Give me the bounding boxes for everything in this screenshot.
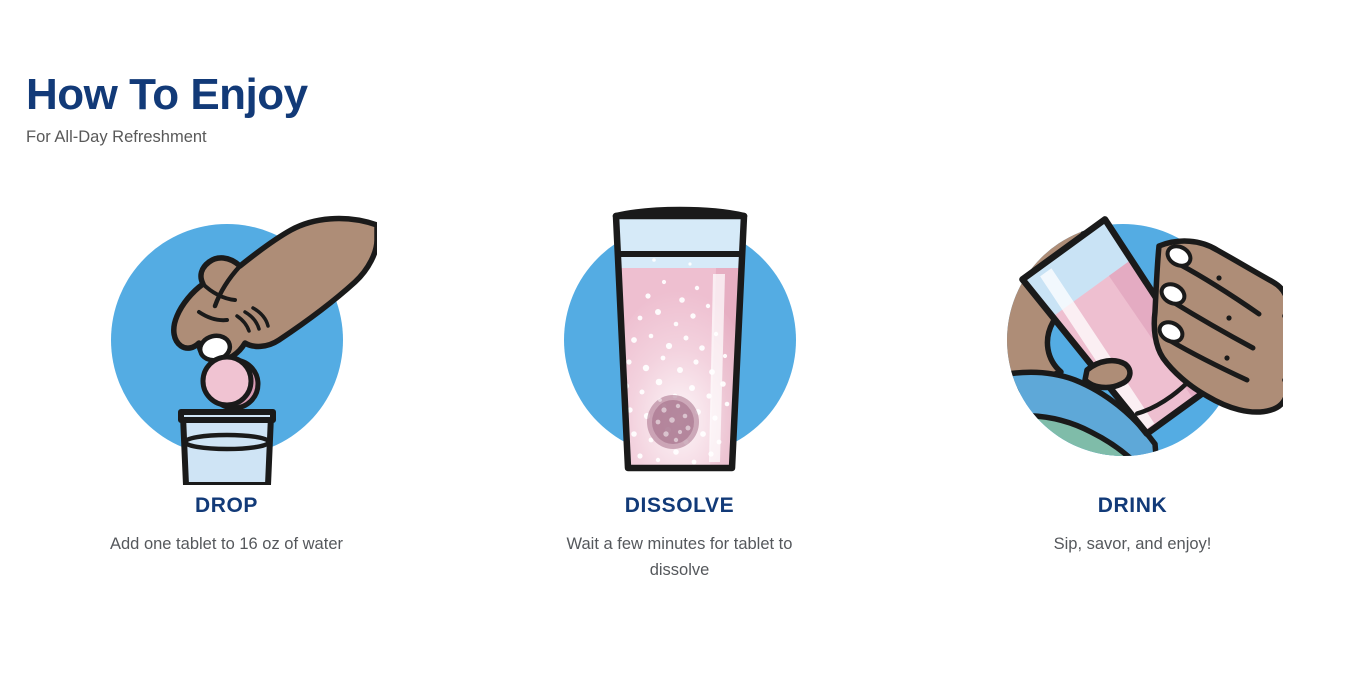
dissolve-illustration [530, 200, 830, 485]
drink-illustration [983, 200, 1283, 485]
step-description: Wait a few minutes for tablet to dissolv… [552, 532, 808, 583]
page-title: How To Enjoy [26, 72, 626, 118]
tall-glass [608, 210, 752, 485]
step-title: DISSOLVE [625, 485, 734, 516]
drop-illustration [77, 200, 377, 485]
water-glass [181, 412, 273, 485]
thumb [1085, 361, 1130, 388]
step-title: DROP [195, 485, 258, 516]
step-description: Add one tablet to 16 oz of water [110, 532, 343, 558]
page-subtitle: For All-Day Refreshment [26, 128, 626, 148]
step-drink: DRINK Sip, savor, and enjoy! [906, 200, 1359, 558]
step-drop: DROP Add one tablet to 16 oz of water [0, 200, 453, 558]
dissolving-tablet [647, 395, 699, 449]
section-header: How To Enjoy For All-Day Refreshment [26, 72, 626, 148]
steps-row: DROP Add one tablet to 16 oz of water [0, 200, 1359, 583]
how-to-enjoy-section: How To Enjoy For All-Day Refreshment [0, 0, 1359, 700]
step-title: DRINK [1098, 485, 1168, 516]
pink-tablet [203, 357, 258, 408]
step-dissolve: DISSOLVE Wait a few minutes for tablet t… [453, 200, 906, 583]
step-description: Sip, savor, and enjoy! [1054, 532, 1212, 558]
